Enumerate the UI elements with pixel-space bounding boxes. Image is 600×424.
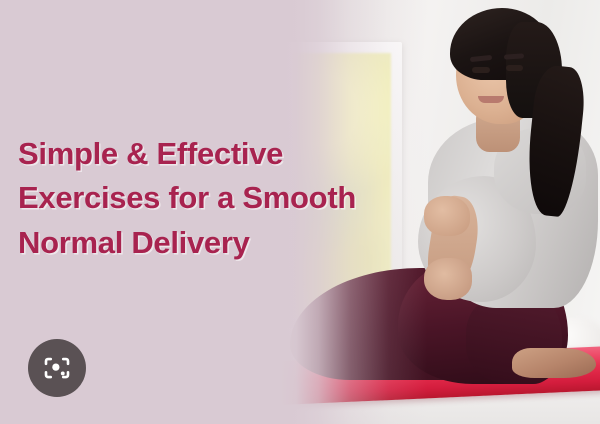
headline-line-1: Simple & Effective: [18, 132, 418, 176]
eye-right: [506, 65, 523, 71]
mouth: [478, 96, 504, 103]
upper-hand: [424, 196, 470, 236]
headline-line-3: Normal Delivery: [18, 221, 418, 265]
lower-hand: [424, 258, 472, 300]
headline: Simple & Effective Exercises for a Smoot…: [18, 132, 418, 265]
bare-foot: [512, 348, 596, 378]
headline-line-2: Exercises for a Smooth: [18, 176, 418, 220]
eye-left: [472, 67, 490, 73]
google-lens-icon: [42, 353, 72, 383]
image-result-banner: Simple & Effective Exercises for a Smoot…: [0, 0, 600, 424]
google-lens-button[interactable]: [28, 339, 86, 397]
